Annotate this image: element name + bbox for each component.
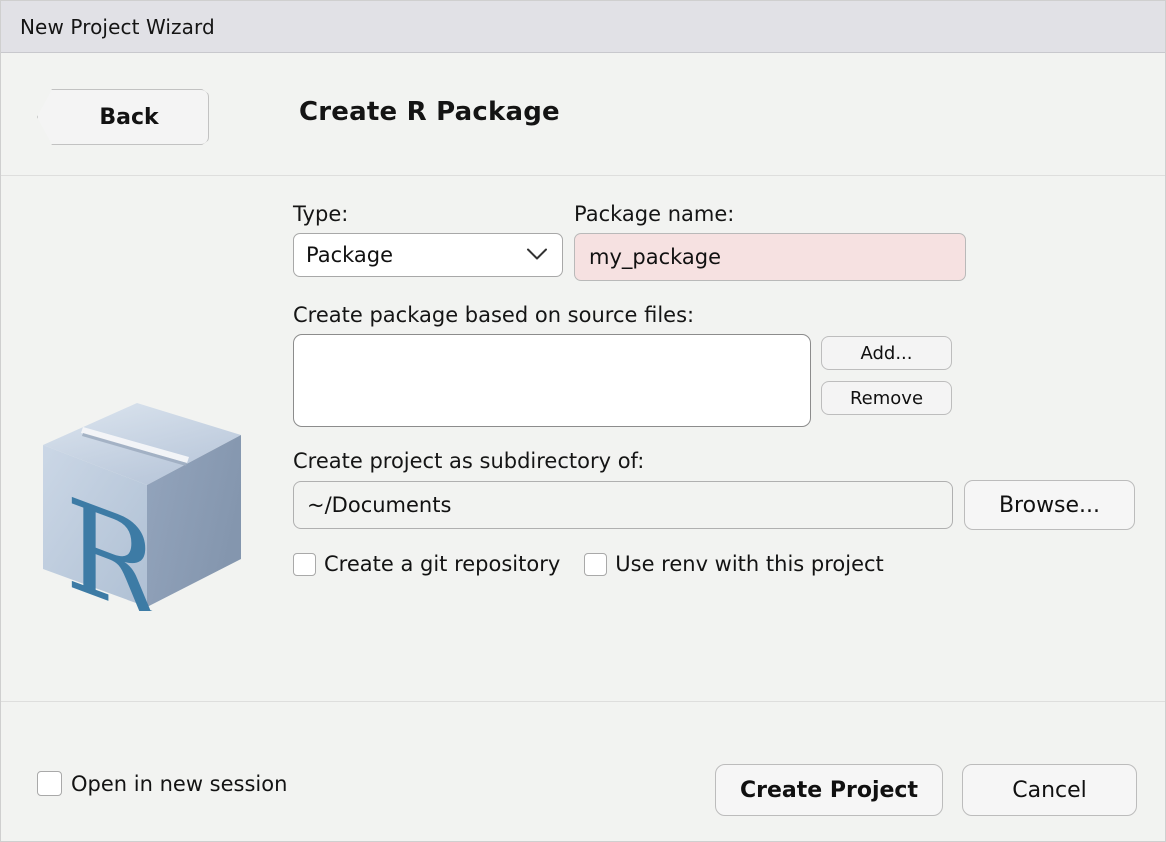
checkbox-box-icon: [293, 553, 316, 576]
options-checkbox-row: Create a git repository Use renv with th…: [293, 552, 1135, 576]
footer-actions: Create Project Cancel: [715, 764, 1137, 816]
add-source-file-button[interactable]: Add...: [821, 336, 952, 370]
new-project-wizard-dialog: New Project Wizard Back Create R Package: [0, 0, 1166, 842]
back-button-label: Back: [87, 105, 158, 130]
wizard-header: Back Create R Package: [1, 53, 1165, 176]
subdirectory-group: Create project as subdirectory of: ~/Doc…: [293, 449, 1135, 530]
open-in-new-session-label: Open in new session: [71, 772, 287, 796]
renv-label: Use renv with this project: [615, 552, 884, 576]
dialog-titlebar: New Project Wizard: [1, 1, 1165, 53]
remove-source-file-button[interactable]: Remove: [821, 381, 952, 415]
type-label: Type:: [293, 202, 563, 226]
source-files-label: Create package based on source files:: [293, 303, 1135, 327]
type-field-group: Type: Package: [293, 202, 563, 277]
package-name-field-group: Package name: my_package: [574, 202, 966, 281]
wizard-body: R Type: Package: [1, 176, 1165, 702]
browse-button[interactable]: Browse...: [964, 480, 1135, 530]
open-in-new-session-checkbox[interactable]: Open in new session: [37, 771, 287, 796]
checkbox-box-icon: [37, 771, 62, 796]
chevron-down-icon: [526, 246, 548, 265]
subdirectory-label: Create project as subdirectory of:: [293, 449, 1135, 473]
r-package-box-icon: R: [39, 399, 245, 615]
type-select-value: Package: [306, 243, 393, 267]
renv-checkbox[interactable]: Use renv with this project: [584, 552, 884, 576]
source-files-listbox[interactable]: [293, 334, 811, 427]
subdirectory-row: ~/Documents Browse...: [293, 480, 1135, 530]
back-button[interactable]: Back: [37, 89, 209, 145]
source-files-row: Add... Remove: [293, 334, 1135, 427]
page-title: Create R Package: [299, 97, 560, 127]
package-name-label: Package name:: [574, 202, 966, 226]
create-project-button[interactable]: Create Project: [715, 764, 943, 816]
type-and-name-row: Type: Package Package name: my_package: [293, 202, 1135, 281]
source-files-group: Create package based on source files: Ad…: [293, 303, 1135, 427]
subdirectory-input[interactable]: ~/Documents: [293, 481, 953, 529]
dialog-title: New Project Wizard: [20, 15, 215, 39]
package-name-input[interactable]: my_package: [574, 233, 966, 281]
source-files-buttons: Add... Remove: [821, 334, 952, 415]
git-repository-label: Create a git repository: [324, 552, 560, 576]
checkbox-box-icon: [584, 553, 607, 576]
wizard-footer: Open in new session Create Project Cance…: [1, 702, 1165, 841]
git-repository-checkbox[interactable]: Create a git repository: [293, 552, 560, 576]
project-form: Type: Package Package name: my_package: [293, 202, 1135, 576]
type-select[interactable]: Package: [293, 233, 563, 277]
cancel-button[interactable]: Cancel: [962, 764, 1137, 816]
